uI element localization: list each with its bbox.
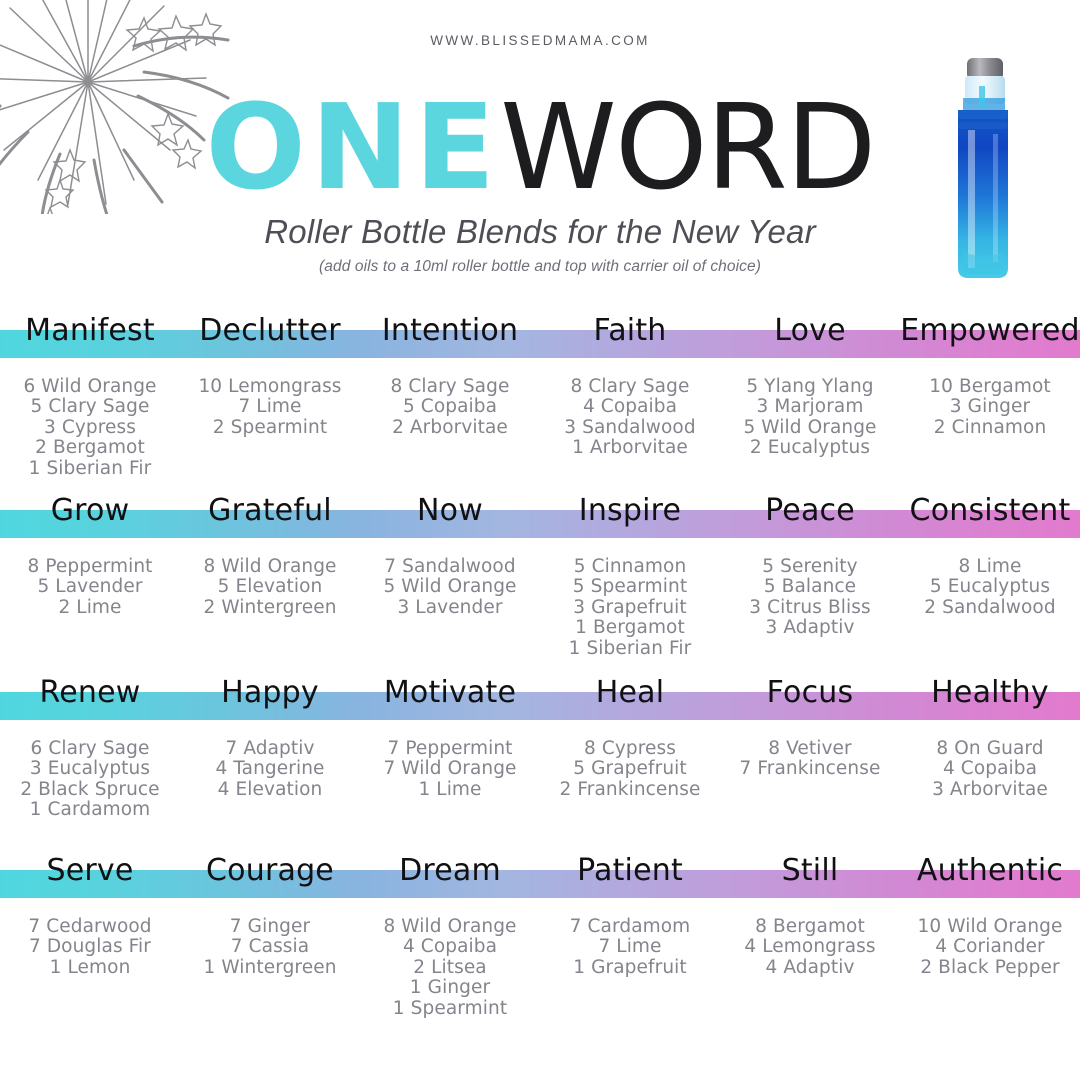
blend-recipe: 8 Cypress5 Grapefruit2 Frankincense [540,739,720,821]
oil-line: 10 Wild Orange [904,917,1076,937]
oil-line: 2 Black Pepper [904,958,1076,978]
blend-header-cell: Healthy [900,672,1080,714]
blend-name: Love [774,310,846,352]
blend-name: Inspire [579,490,681,532]
blend-rows: ManifestDeclutterIntentionFaithLoveEmpow… [0,330,1080,1060]
oil-line: 2 Bergamot [4,438,176,458]
oil-line: 2 Cinnamon [904,418,1076,438]
blend-recipe: 8 Bergamot4 Lemongrass4 Adaptiv [720,917,900,1019]
blend-name: Intention [382,310,518,352]
blend-header-cell: Peace [720,490,900,532]
blend-recipe-strip: 6 Clary Sage3 Eucalyptus2 Black Spruce1 … [0,720,1080,821]
blend-name: Faith [594,310,667,352]
blend-recipe: 7 Cedarwood7 Douglas Fir1 Lemon [0,917,180,1019]
gradient-header-bar: ServeCourageDreamPatientStillAuthentic [0,870,1080,898]
page-subtitle: Roller Bottle Blends for the New Year [0,213,1080,251]
blend-header-cell: Heal [540,672,720,714]
blend-recipe: 8 Lime5 Eucalyptus2 Sandalwood [900,557,1080,659]
oil-line: 8 Bergamot [724,917,896,937]
oil-line: 3 Cypress [4,418,176,438]
blend-header-cell: Now [360,490,540,532]
oil-line: 4 Copaiba [364,937,536,957]
blend-name: Heal [596,672,665,714]
oil-line: 8 Wild Orange [364,917,536,937]
blend-recipe: 10 Bergamot3 Ginger2 Cinnamon [900,377,1080,479]
oil-line: 8 On Guard [904,739,1076,759]
oil-line: 3 Lavender [364,598,536,618]
oil-line: 5 Copaiba [364,397,536,417]
blend-name: Focus [767,672,854,714]
blend-recipe-strip: 8 Peppermint5 Lavender2 Lime8 Wild Orang… [0,538,1080,659]
oil-line: 1 Siberian Fir [544,639,716,659]
header-label-strip: ManifestDeclutterIntentionFaithLoveEmpow… [0,308,1080,354]
blend-header-cell: Intention [360,310,540,352]
oil-line: 8 Clary Sage [544,377,716,397]
oil-line: 7 Wild Orange [364,759,536,779]
blend-name: Happy [221,672,319,714]
oil-line: 2 Sandalwood [904,598,1076,618]
blend-name: Grow [51,490,130,532]
oil-line: 1 Cardamom [4,800,176,820]
oil-line: 1 Wintergreen [184,958,356,978]
oil-line: 1 Spearmint [364,999,536,1019]
blend-header-cell: Happy [180,672,360,714]
blend-name: Still [782,850,839,892]
blend-recipe: 5 Cinnamon5 Spearmint3 Grapefruit1 Berga… [540,557,720,659]
blend-name: Empowered [900,310,1080,352]
blend-recipe: 6 Wild Orange5 Clary Sage3 Cypress2 Berg… [0,377,180,479]
oil-line: 5 Serenity [724,557,896,577]
oil-line: 7 Frankincense [724,759,896,779]
oil-line: 4 Tangerine [184,759,356,779]
blend-recipe: 8 Wild Orange5 Elevation2 Wintergreen [180,557,360,659]
gradient-header-bar: GrowGratefulNowInspirePeaceConsistent [0,510,1080,538]
oil-line: 3 Grapefruit [544,598,716,618]
blend-header-cell: Love [720,310,900,352]
blend-name: Consistent [910,490,1071,532]
blend-header-cell: Manifest [0,310,180,352]
oil-line: 4 Coriander [904,937,1076,957]
oil-line: 4 Copaiba [904,759,1076,779]
oil-line: 7 Sandalwood [364,557,536,577]
oil-line: 1 Lemon [4,958,176,978]
oil-line: 5 Wild Orange [364,577,536,597]
oil-line: 4 Lemongrass [724,937,896,957]
oil-line: 8 Wild Orange [184,557,356,577]
oil-line: 5 Balance [724,577,896,597]
oil-line: 1 Lime [364,780,536,800]
oil-line: 8 Lime [904,557,1076,577]
blend-recipe: 8 Vetiver7 Frankincense [720,739,900,821]
header-label-strip: RenewHappyMotivateHealFocusHealthy [0,670,1080,716]
oil-line: 3 Arborvitae [904,780,1076,800]
oil-line: 2 Wintergreen [184,598,356,618]
blend-recipe: 8 Clary Sage5 Copaiba2 Arborvitae [360,377,540,479]
blend-recipe: 7 Peppermint7 Wild Orange1 Lime [360,739,540,821]
oil-line: 5 Ylang Ylang [724,377,896,397]
oil-line: 5 Elevation [184,577,356,597]
oil-line: 7 Ginger [184,917,356,937]
blend-name: Courage [206,850,334,892]
oil-line: 10 Bergamot [904,377,1076,397]
oil-line: 1 Arborvitae [544,438,716,458]
oil-line: 5 Spearmint [544,577,716,597]
blend-recipe: 6 Clary Sage3 Eucalyptus2 Black Spruce1 … [0,739,180,821]
oil-line: 3 Marjoram [724,397,896,417]
oil-line: 2 Lime [4,598,176,618]
oil-line: 3 Eucalyptus [4,759,176,779]
blend-header-cell: Courage [180,850,360,892]
blend-recipe-strip: 7 Cedarwood7 Douglas Fir1 Lemon7 Ginger7… [0,898,1080,1019]
blend-recipe-strip: 6 Wild Orange5 Clary Sage3 Cypress2 Berg… [0,358,1080,479]
oil-line: 5 Lavender [4,577,176,597]
oil-line: 5 Wild Orange [724,418,896,438]
blend-name: Manifest [25,310,155,352]
blend-header-cell: Dream [360,850,540,892]
blend-recipe: 8 Clary Sage4 Copaiba3 Sandalwood1 Arbor… [540,377,720,479]
blend-row: GrowGratefulNowInspirePeaceConsistent8 P… [0,510,1080,692]
oil-line: 7 Lime [544,937,716,957]
oil-line: 1 Siberian Fir [4,459,176,479]
blend-row: RenewHappyMotivateHealFocusHealthy6 Clar… [0,692,1080,870]
blend-recipe: 7 Ginger7 Cassia1 Wintergreen [180,917,360,1019]
blend-recipe: 8 Wild Orange4 Copaiba2 Litsea1 Ginger1 … [360,917,540,1019]
oil-line: 10 Lemongrass [184,377,356,397]
blend-recipe: 5 Ylang Ylang3 Marjoram5 Wild Orange2 Eu… [720,377,900,479]
oil-line: 8 Clary Sage [364,377,536,397]
oil-line: 2 Frankincense [544,780,716,800]
blend-recipe: 7 Sandalwood5 Wild Orange3 Lavender [360,557,540,659]
oil-line: 2 Arborvitae [364,418,536,438]
blend-name: Serve [46,850,133,892]
gradient-header-bar: ManifestDeclutterIntentionFaithLoveEmpow… [0,330,1080,358]
site-url: WWW.BLISSEDMAMA.COM [0,33,1080,48]
blend-header-cell: Renew [0,672,180,714]
blend-recipe: 10 Wild Orange4 Coriander2 Black Pepper [900,917,1080,1019]
blend-header-cell: Motivate [360,672,540,714]
header-label-strip: ServeCourageDreamPatientStillAuthentic [0,848,1080,894]
blend-name: Grateful [208,490,332,532]
blend-header-cell: Inspire [540,490,720,532]
oil-line: 2 Black Spruce [4,780,176,800]
blend-header-cell: Grow [0,490,180,532]
oil-line: 1 Ginger [364,978,536,998]
oil-line: 7 Cardamom [544,917,716,937]
oil-line: 7 Lime [184,397,356,417]
oil-line: 5 Grapefruit [544,759,716,779]
blend-name: Authentic [917,850,1063,892]
oil-line: 2 Eucalyptus [724,438,896,458]
oil-line: 4 Adaptiv [724,958,896,978]
blend-header-cell: Declutter [180,310,360,352]
oil-line: 3 Adaptiv [724,618,896,638]
blend-name: Now [417,490,483,532]
blend-name: Renew [40,672,141,714]
blend-name: Patient [577,850,683,892]
gradient-header-bar: RenewHappyMotivateHealFocusHealthy [0,692,1080,720]
blend-header-cell: Serve [0,850,180,892]
oil-line: 7 Peppermint [364,739,536,759]
blend-row: ManifestDeclutterIntentionFaithLoveEmpow… [0,330,1080,510]
blend-header-cell: Authentic [900,850,1080,892]
oil-line: 7 Douglas Fir [4,937,176,957]
blend-header-cell: Patient [540,850,720,892]
title-word: WORD [500,78,874,216]
blend-recipe: 10 Lemongrass7 Lime2 Spearmint [180,377,360,479]
blend-header-cell: Consistent [900,490,1080,532]
blend-name: Declutter [199,310,341,352]
blend-name: Peace [765,490,855,532]
oil-line: 5 Eucalyptus [904,577,1076,597]
blend-header-cell: Empowered [900,310,1080,352]
page-note: (add oils to a 10ml roller bottle and to… [0,258,1080,276]
blend-header-cell: Still [720,850,900,892]
blend-name: Healthy [931,672,1049,714]
oil-line: 7 Cassia [184,937,356,957]
blend-recipe: 7 Adaptiv4 Tangerine4 Elevation [180,739,360,821]
oil-line: 3 Citrus Bliss [724,598,896,618]
oil-line: 5 Cinnamon [544,557,716,577]
blend-header-cell: Faith [540,310,720,352]
oil-line: 8 Peppermint [4,557,176,577]
blend-name: Dream [399,850,501,892]
blend-row: ServeCourageDreamPatientStillAuthentic7 … [0,870,1080,1060]
oil-line: 2 Spearmint [184,418,356,438]
blend-recipe: 8 On Guard4 Copaiba3 Arborvitae [900,739,1080,821]
blend-name: Motivate [384,672,516,714]
blend-recipe: 8 Peppermint5 Lavender2 Lime [0,557,180,659]
oil-line: 1 Bergamot [544,618,716,638]
oil-line: 4 Copaiba [544,397,716,417]
blend-recipe: 7 Cardamom7 Lime1 Grapefruit [540,917,720,1019]
oil-line: 7 Adaptiv [184,739,356,759]
oil-line: 3 Sandalwood [544,418,716,438]
oil-line: 6 Wild Orange [4,377,176,397]
infographic-page: WWW.BLISSEDMAMA.COM ONEWORD Roller Bottl… [0,0,1080,1080]
oil-line: 6 Clary Sage [4,739,176,759]
oil-line: 8 Cypress [544,739,716,759]
blend-recipe: 5 Serenity5 Balance3 Citrus Bliss3 Adapt… [720,557,900,659]
oil-line: 8 Vetiver [724,739,896,759]
oil-line: 4 Elevation [184,780,356,800]
oil-line: 2 Litsea [364,958,536,978]
page-title: ONEWORD [0,88,1080,206]
oil-line: 7 Cedarwood [4,917,176,937]
oil-line: 1 Grapefruit [544,958,716,978]
blend-header-cell: Grateful [180,490,360,532]
oil-line: 3 Ginger [904,397,1076,417]
header-label-strip: GrowGratefulNowInspirePeaceConsistent [0,488,1080,534]
oil-line: 5 Clary Sage [4,397,176,417]
blend-header-cell: Focus [720,672,900,714]
title-one: ONE [205,78,500,216]
